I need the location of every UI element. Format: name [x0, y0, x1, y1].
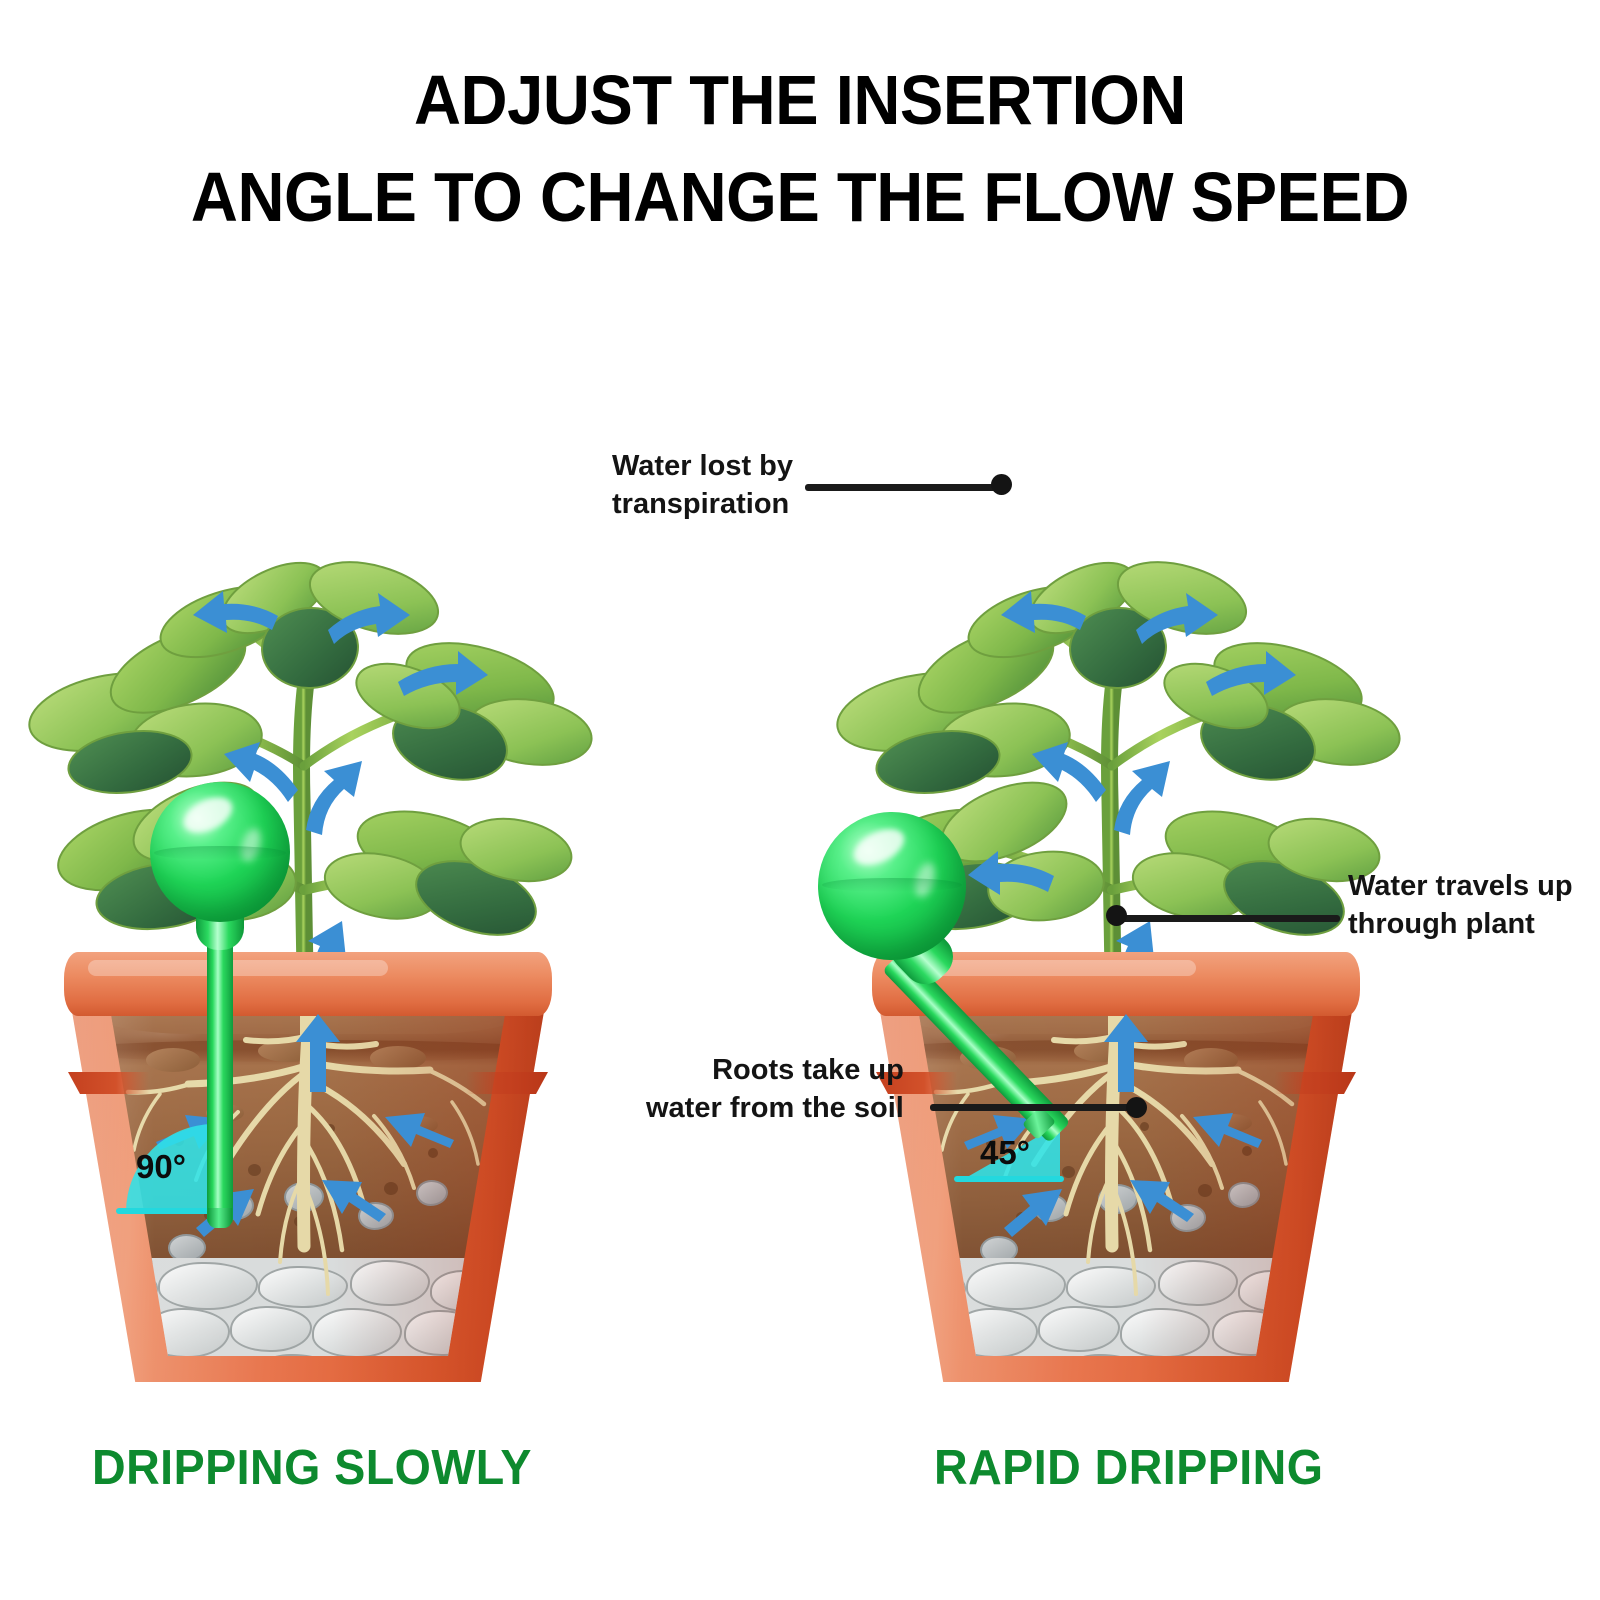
leader-line-water-travels [1115, 915, 1340, 922]
watering-globe-left [10, 0, 630, 1420]
caption-left: DRIPPING SLOWLY [92, 1440, 532, 1496]
infographic-canvas: ADJUST THE INSERTION ANGLE TO CHANGE THE… [0, 0, 1600, 1600]
caption-right: RAPID DRIPPING [934, 1440, 1323, 1496]
leader-line-roots-uptake [930, 1104, 1135, 1111]
left-panel: 90° [10, 0, 630, 1420]
annotation-transpiration-line-1: Water lost by [612, 448, 793, 486]
leader-dot-transpiration [991, 474, 1012, 495]
annotation-transpiration: Water lost by transpiration [612, 448, 793, 523]
leader-line-transpiration [805, 484, 1000, 491]
annotation-roots-uptake: Roots take up water from the soil [646, 1052, 904, 1127]
annotation-water-travels-line-1: Water travels up [1348, 868, 1573, 906]
leader-dot-water-travels [1106, 905, 1127, 926]
annotation-roots-uptake-line-1: Roots take up [646, 1052, 904, 1090]
watering-globe-right [818, 0, 1438, 1420]
right-panel: 45° [818, 0, 1438, 1420]
annotation-water-travels: Water travels up through plant [1348, 868, 1573, 943]
leader-dot-roots-uptake [1126, 1097, 1147, 1118]
annotation-roots-uptake-line-2: water from the soil [646, 1090, 904, 1128]
annotation-transpiration-line-2: transpiration [612, 486, 793, 524]
annotation-water-travels-line-2: through plant [1348, 906, 1573, 944]
